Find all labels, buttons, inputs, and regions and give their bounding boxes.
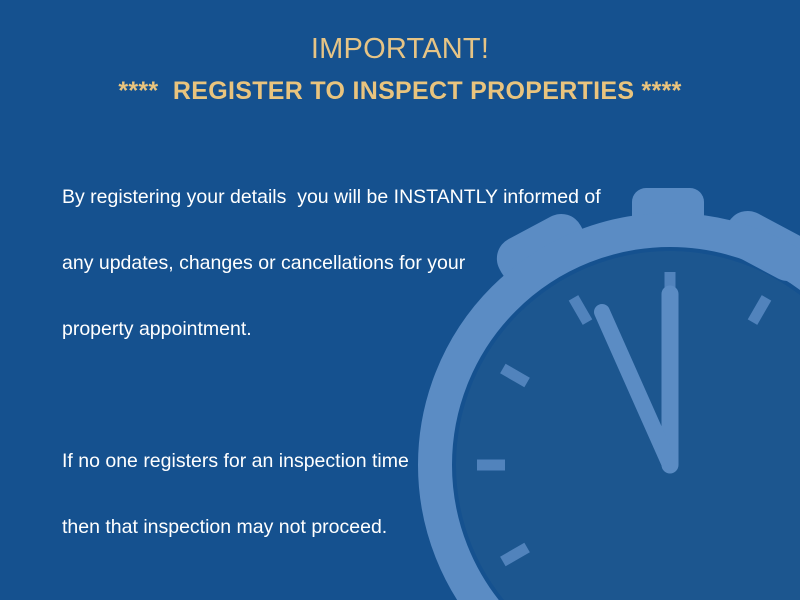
body-copy: By registering your details you will be … [62, 146, 722, 600]
heading-block: IMPORTANT! **** REGISTER TO INSPECT PROP… [0, 30, 800, 108]
paragraph-registering-benefits: By registering your details you will be … [62, 146, 722, 380]
paragraph-spacer-1 [62, 380, 722, 410]
paragraph2-line1: If no one registers for an inspection ti… [62, 446, 722, 476]
paragraph1-line2: any updates, changes or cancellations fo… [62, 248, 722, 278]
paragraph1-line3: property appointment. [62, 314, 722, 344]
page-subtitle: **** REGISTER TO INSPECT PROPERTIES **** [0, 74, 800, 108]
paragraph2-line2: then that inspection may not proceed. [62, 512, 722, 542]
paragraph1-line1: By registering your details you will be … [62, 182, 722, 212]
paragraph-spacer-2 [62, 578, 722, 600]
paragraph-no-registration-warning: If no one registers for an inspection ti… [62, 410, 722, 578]
page-title: IMPORTANT! [0, 30, 800, 68]
stopwatch-right-button [716, 203, 800, 289]
slide-canvas: IMPORTANT! **** REGISTER TO INSPECT PROP… [0, 0, 800, 600]
